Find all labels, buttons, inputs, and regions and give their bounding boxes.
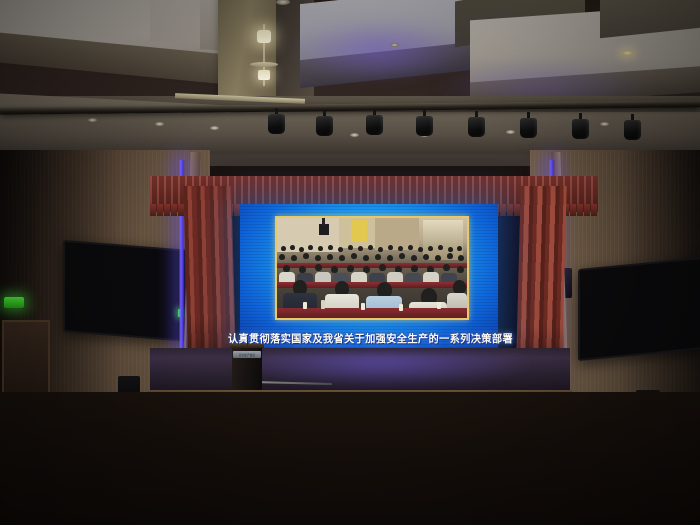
microphone-icon (247, 340, 248, 347)
pendant-light (256, 24, 272, 86)
photo-yellow-panel (351, 220, 367, 242)
spotlight-icon (268, 108, 285, 134)
downlight (210, 126, 219, 130)
downlight (600, 122, 609, 126)
photo-camera-tripod (319, 224, 329, 235)
photo-crowd (277, 244, 467, 320)
spotlight-icon (572, 113, 589, 139)
pendant-disc (250, 62, 278, 67)
spotlight-icon (316, 110, 333, 136)
downlight (506, 130, 515, 134)
auditorium-house (0, 392, 700, 525)
exit-sign-icon (4, 297, 24, 308)
spotlight-icon (624, 114, 641, 140)
spotlight-icon (520, 112, 537, 138)
auditorium-screenshot: 认真贯彻落实国家及我省关于加强安全生产的一系列决策部署 安全生产会议 (0, 0, 700, 525)
podium-nameplate-text: 安全生产会议 (239, 353, 255, 357)
pendant-lamp-upper (257, 30, 271, 43)
display-monitor-right[interactable] (578, 257, 700, 361)
exit-door[interactable] (2, 320, 50, 402)
screen-caption: 认真贯彻落实国家及我省关于加强安全生产的一系列决策部署 (245, 330, 495, 347)
spotlight-icon (468, 111, 485, 137)
screen-caption-text: 认真贯彻落实国家及我省关于加强安全生产的一系列决策部署 (227, 331, 512, 346)
spotlight-icon (366, 109, 383, 135)
downlight (390, 43, 399, 47)
podium-nameplate: 安全生产会议 (233, 351, 261, 358)
spotlight-icon (416, 110, 433, 136)
downlight (155, 122, 164, 126)
display-monitor-left[interactable] (63, 240, 192, 342)
downlight (350, 133, 359, 137)
pendant-lamp-lower (258, 70, 270, 80)
screen-photo (275, 216, 469, 320)
downlight (88, 118, 97, 122)
downlight-bright (621, 50, 634, 56)
